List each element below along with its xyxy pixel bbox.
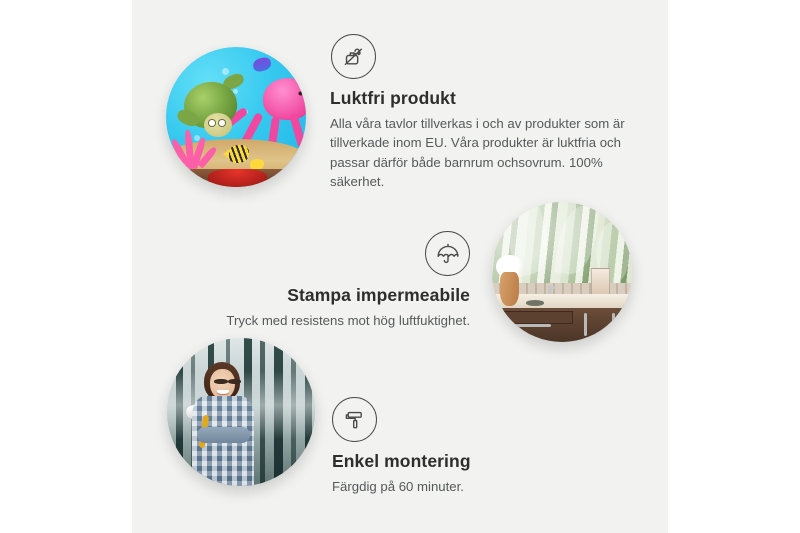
woman-eye	[228, 379, 241, 383]
woman-face	[210, 369, 235, 399]
icon-row	[332, 397, 612, 442]
drawer-handle	[514, 324, 550, 327]
cabinet-handle	[612, 313, 615, 337]
bathroom-vanity-mural-photo	[492, 202, 632, 342]
red-foreground-shape	[208, 169, 267, 187]
feature-title: Stampa impermeabile	[210, 285, 470, 307]
feature-description: Alla våra tavlor tillverkas i och av pro…	[330, 114, 630, 192]
octopus-icon	[263, 78, 306, 120]
feature-easy-install: Enkel montering Färgdig på 60 minuter.	[332, 397, 612, 496]
no-fragrance-icon	[331, 34, 376, 79]
feature-description: Tryck med resistens mot hög luftfuktighe…	[210, 311, 470, 331]
feature-title: Luktfri produkt	[330, 88, 630, 110]
soap-dish	[526, 300, 544, 306]
woman-eye	[214, 379, 227, 383]
umbrella-icon	[425, 231, 470, 276]
icon-row	[210, 231, 470, 276]
paint-roller-icon	[332, 397, 377, 442]
installer-forest-mural-photo	[167, 338, 315, 486]
bubble-icon	[222, 68, 229, 75]
feature-waterproof: Stampa impermeabile Tryck med resistens …	[210, 231, 470, 330]
copper-vase	[500, 272, 518, 306]
feature-odorless: Luktfri produkt Alla våra tavlor tillver…	[330, 34, 630, 192]
feature-title: Enkel montering	[332, 451, 612, 473]
feature-description: Färgdig på 60 minuter.	[332, 477, 612, 497]
underwater-kids-mural-photo	[166, 47, 306, 187]
icon-row	[330, 34, 630, 79]
cabinet-handle	[584, 313, 587, 337]
coral-icon	[174, 130, 216, 169]
octopus-eye	[298, 91, 304, 96]
crossed-arms	[197, 427, 250, 443]
promo-banner: Luktfri produkt Alla våra tavlor tillver…	[0, 0, 800, 533]
cabinet-drawer	[500, 311, 573, 324]
yellow-fish-icon	[228, 145, 249, 163]
